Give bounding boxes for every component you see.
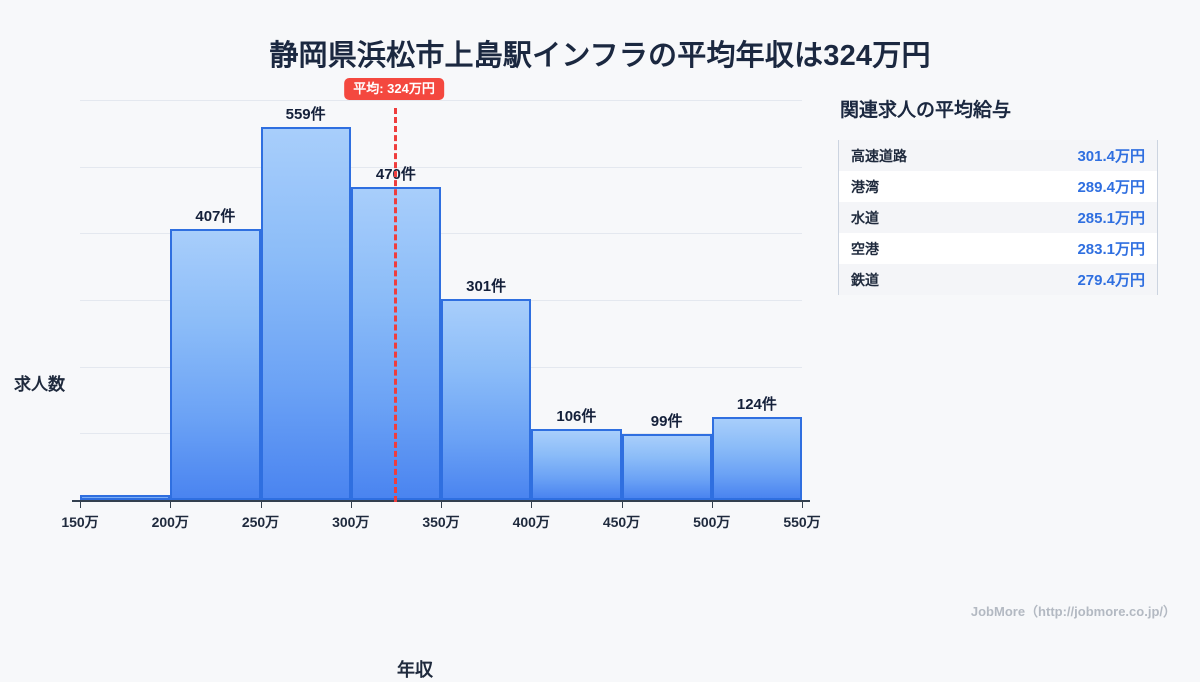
related-salary-label: 空港 bbox=[851, 239, 879, 259]
related-salary-label: 鉄道 bbox=[851, 270, 879, 290]
page-title: 静岡県浜松市上島駅インフラの平均年収は324万円 bbox=[0, 32, 1200, 74]
histogram-bar[interactable] bbox=[261, 127, 351, 500]
x-axis-tick-label: 150万 bbox=[61, 512, 98, 532]
related-salary-label: 高速道路 bbox=[851, 146, 907, 166]
related-salary-row[interactable]: 高速道路301.4万円 bbox=[839, 140, 1157, 171]
related-salary-value: 285.1万円 bbox=[1077, 207, 1145, 228]
histogram-chart: 求人数 407件559件470件301件106件99件124件150万200万2… bbox=[0, 90, 830, 560]
x-axis-tick-label: 550万 bbox=[783, 512, 820, 532]
x-axis-tick-label: 200万 bbox=[152, 512, 189, 532]
histogram-bar[interactable] bbox=[712, 417, 802, 500]
related-salary-row[interactable]: 鉄道279.4万円 bbox=[839, 264, 1157, 295]
histogram-bar[interactable] bbox=[441, 299, 531, 500]
x-axis-tick bbox=[261, 500, 262, 508]
related-salary-row[interactable]: 空港283.1万円 bbox=[839, 233, 1157, 264]
gridline bbox=[80, 100, 802, 101]
plot-area: 407件559件470件301件106件99件124件150万200万250万3… bbox=[72, 100, 802, 500]
y-axis-title: 求人数 bbox=[14, 370, 65, 395]
x-axis-title: 年収 bbox=[0, 656, 830, 682]
x-axis-tick bbox=[712, 500, 713, 508]
x-axis-tick bbox=[170, 500, 171, 508]
related-salary-label: 水道 bbox=[851, 208, 879, 228]
x-axis-tick bbox=[531, 500, 532, 508]
x-axis-tick-label: 350万 bbox=[422, 512, 459, 532]
x-axis-tick bbox=[622, 500, 623, 508]
x-axis-tick bbox=[80, 500, 81, 508]
bar-value-label: 106件 bbox=[556, 405, 596, 426]
x-axis-tick-label: 300万 bbox=[332, 512, 369, 532]
gridline bbox=[80, 167, 802, 168]
x-axis-tick bbox=[441, 500, 442, 508]
average-badge: 平均: 324万円 bbox=[344, 78, 444, 100]
related-salary-value: 283.1万円 bbox=[1077, 238, 1145, 259]
histogram-bar[interactable] bbox=[622, 434, 712, 500]
x-axis-tick-label: 500万 bbox=[693, 512, 730, 532]
bar-value-label: 559件 bbox=[286, 103, 326, 124]
bar-value-label: 99件 bbox=[651, 410, 683, 431]
related-salary-value: 289.4万円 bbox=[1077, 176, 1145, 197]
histogram-bar[interactable] bbox=[531, 429, 621, 500]
related-salary-panel: 関連求人の平均給与 高速道路301.4万円港湾289.4万円水道285.1万円空… bbox=[838, 95, 1168, 295]
related-salary-value: 279.4万円 bbox=[1077, 269, 1145, 290]
related-salary-value: 301.4万円 bbox=[1077, 145, 1145, 166]
chart-page: 静岡県浜松市上島駅インフラの平均年収は324万円 求人数 407件559件470… bbox=[0, 0, 1200, 630]
x-axis-tick-label: 400万 bbox=[513, 512, 550, 532]
related-salary-row[interactable]: 港湾289.4万円 bbox=[839, 171, 1157, 202]
x-axis-tick-label: 250万 bbox=[242, 512, 279, 532]
x-axis-tick-label: 450万 bbox=[603, 512, 640, 532]
bar-value-label: 124件 bbox=[737, 393, 777, 414]
x-axis-tick bbox=[802, 500, 803, 508]
average-line bbox=[394, 108, 397, 502]
bar-value-label: 301件 bbox=[466, 275, 506, 296]
related-salary-table: 高速道路301.4万円港湾289.4万円水道285.1万円空港283.1万円鉄道… bbox=[838, 140, 1158, 295]
related-salary-label: 港湾 bbox=[851, 177, 879, 197]
footer-watermark: JobMore（http://jobmore.co.jp/） bbox=[971, 601, 1176, 620]
related-salary-title: 関連求人の平均給与 bbox=[840, 95, 1168, 122]
x-axis-tick bbox=[351, 500, 352, 508]
bar-value-label: 407件 bbox=[195, 205, 235, 226]
histogram-bar[interactable] bbox=[170, 229, 260, 500]
related-salary-row[interactable]: 水道285.1万円 bbox=[839, 202, 1157, 233]
